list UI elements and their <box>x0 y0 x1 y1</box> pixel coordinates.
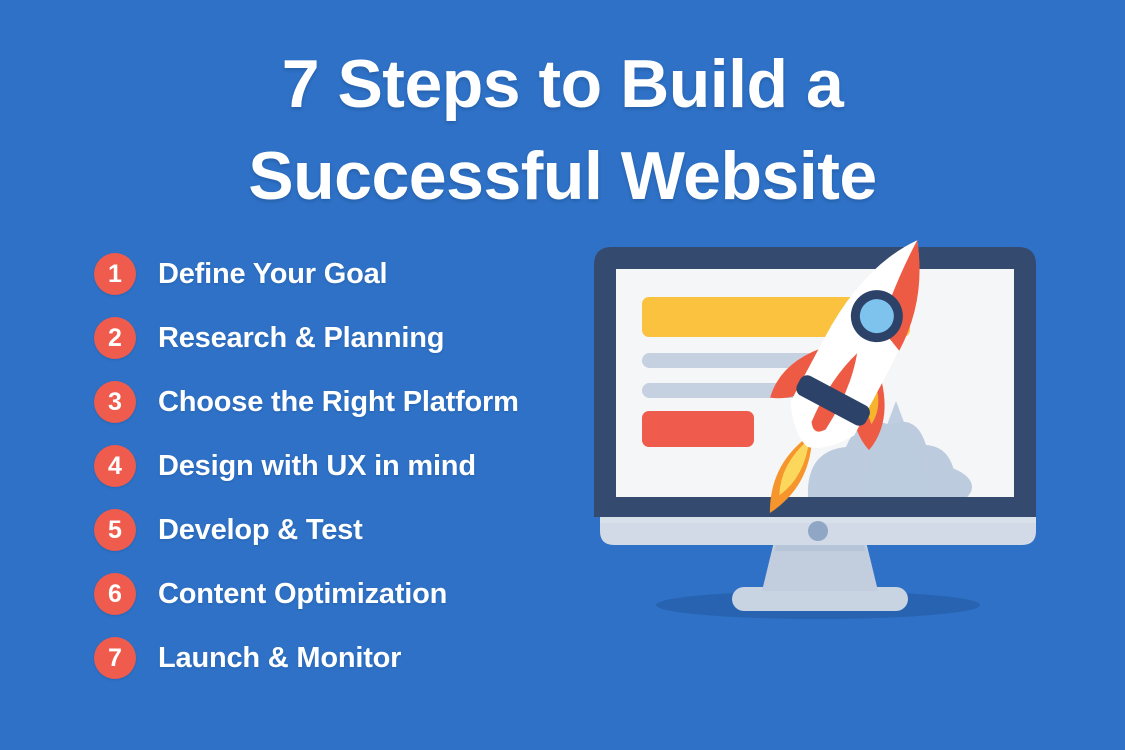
monitor-rocket-illustration <box>560 195 1120 655</box>
step-label: Design with UX in mind <box>158 449 476 483</box>
step-number-badge: 1 <box>94 253 136 295</box>
step-number-badge: 4 <box>94 445 136 487</box>
step-number-badge: 7 <box>94 637 136 679</box>
step-label: Develop & Test <box>158 513 363 547</box>
step-label: Launch & Monitor <box>158 641 401 675</box>
step-label: Define Your Goal <box>158 257 387 291</box>
infographic-poster: 7 Steps to Build a Successful Website 1 … <box>0 0 1125 750</box>
step-label: Choose the Right Platform <box>158 385 519 419</box>
monitor-chin-dot <box>808 521 828 541</box>
screen-red-button[interactable] <box>642 411 754 447</box>
step-number-badge: 3 <box>94 381 136 423</box>
step-number-badge: 2 <box>94 317 136 359</box>
step-number-badge: 6 <box>94 573 136 615</box>
step-label: Research & Planning <box>158 321 444 355</box>
step-label: Content Optimization <box>158 577 447 611</box>
title-line-1: 7 Steps to Build a <box>0 38 1125 130</box>
step-number-badge: 5 <box>94 509 136 551</box>
